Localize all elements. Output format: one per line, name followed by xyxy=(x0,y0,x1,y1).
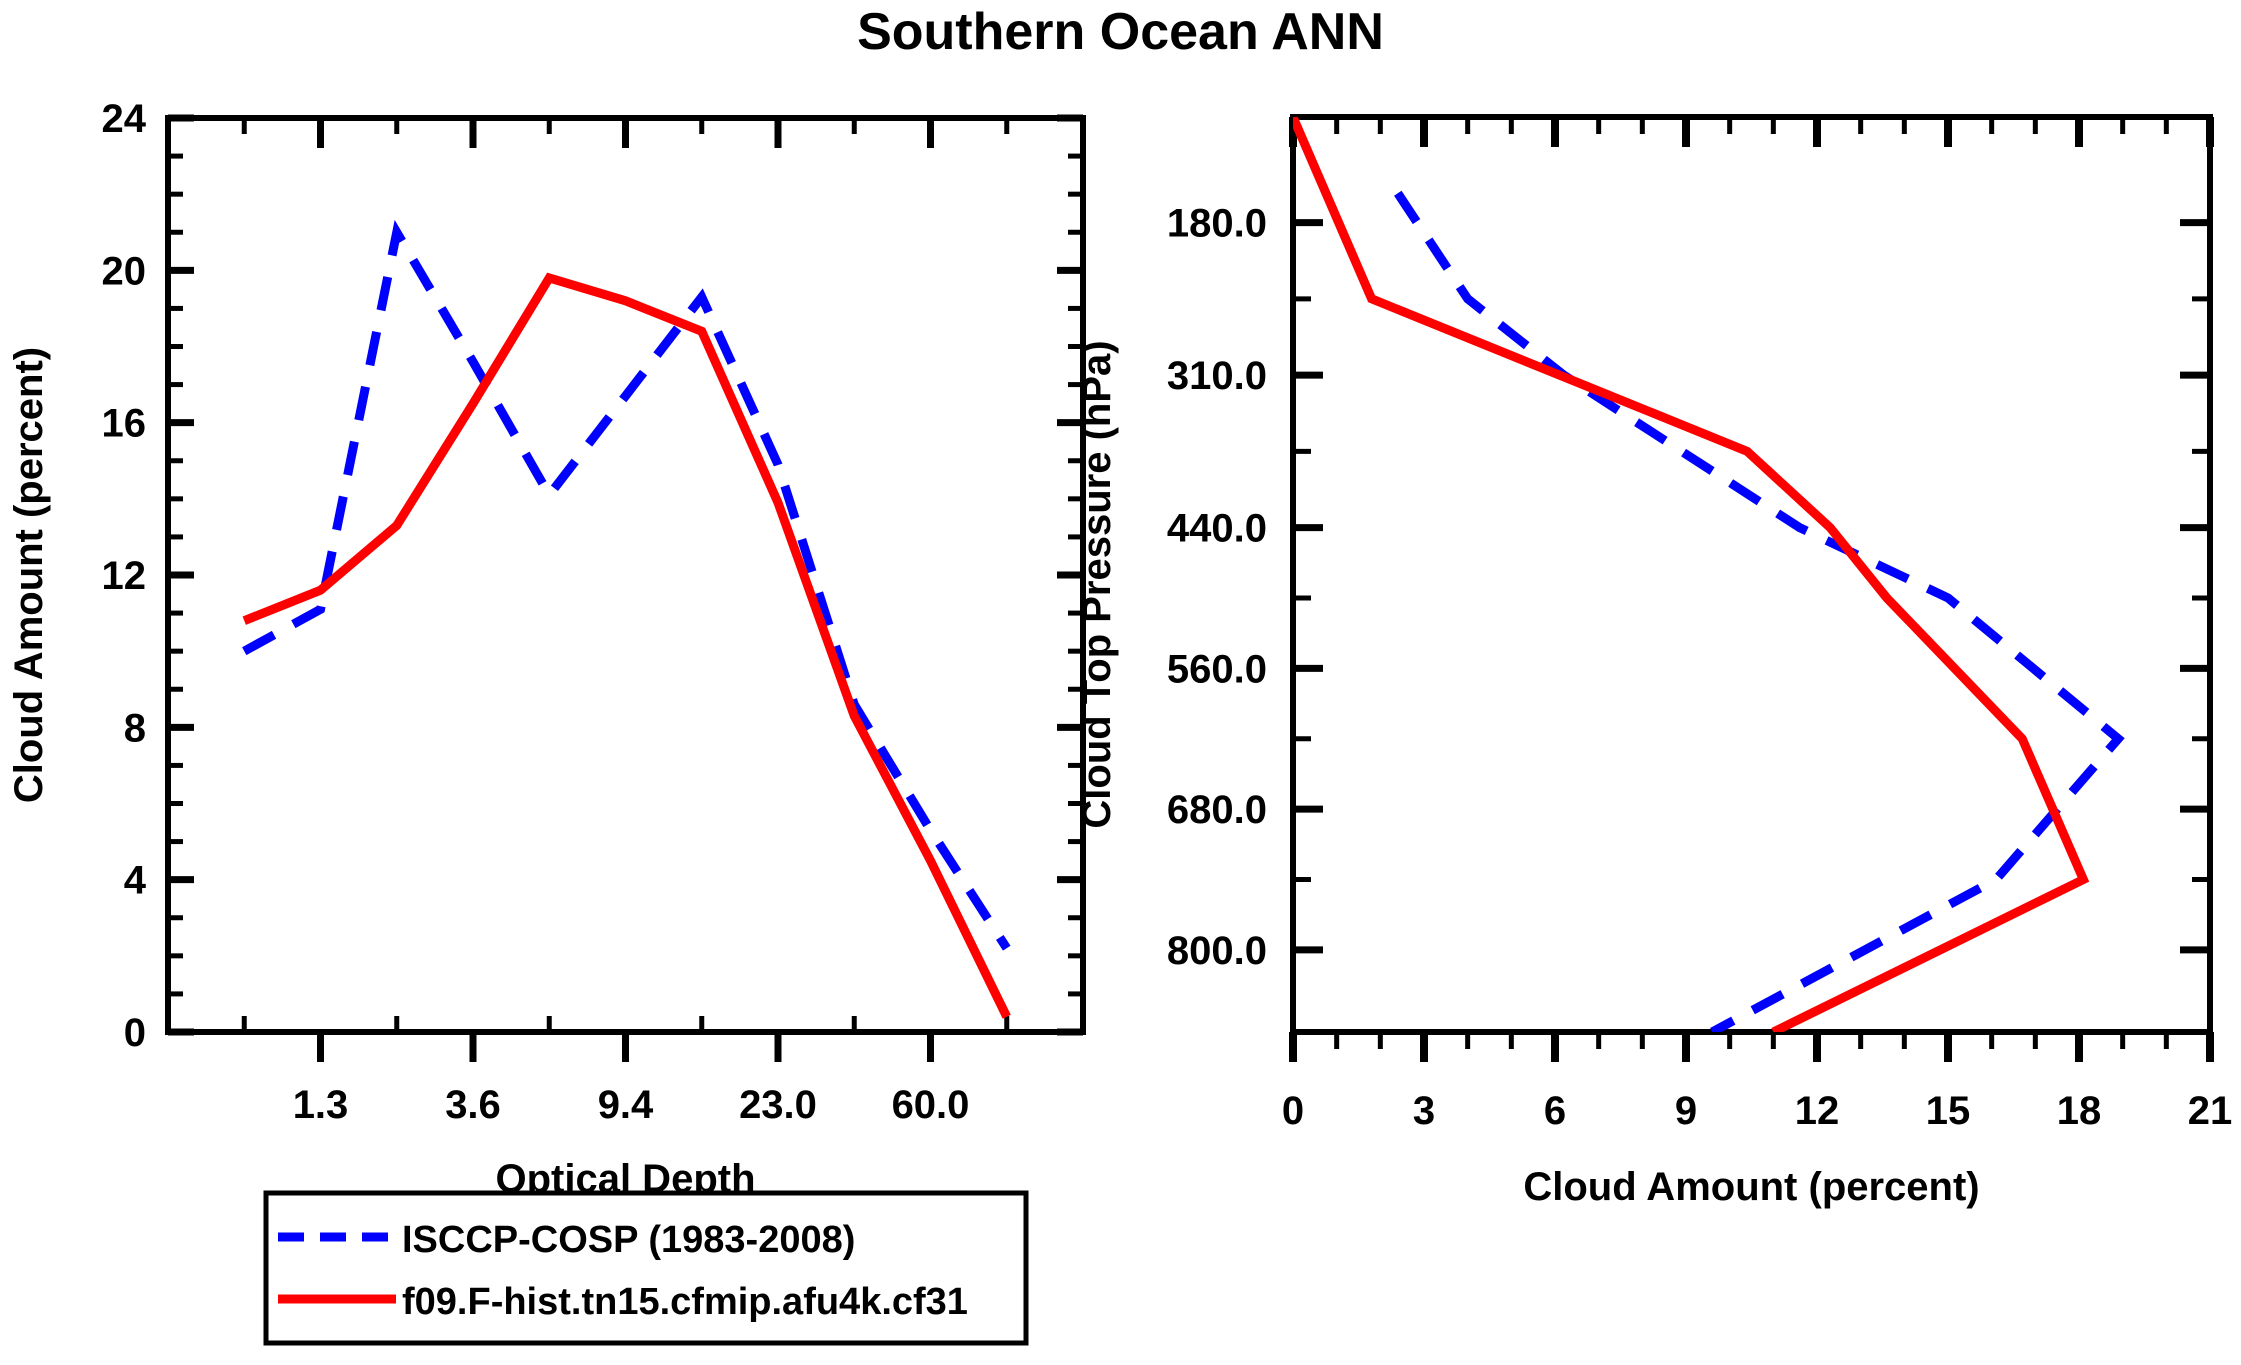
y-tick-label: 16 xyxy=(102,402,147,446)
y-axis-title: Cloud Top Pressure (hPa) xyxy=(1075,340,1119,828)
x-tick-label: 15 xyxy=(1926,1089,1971,1133)
legend-label-0: ISCCP-COSP (1983-2008) xyxy=(402,1219,855,1261)
y-tick-label: 12 xyxy=(102,554,147,598)
y-tick-label: 8 xyxy=(124,706,146,750)
x-tick-label: 0 xyxy=(1282,1089,1304,1133)
y-tick-label: 0 xyxy=(124,1011,146,1055)
figure-root: Southern Ocean ANN 048121620241.33.69.42… xyxy=(0,0,2241,1365)
y-tick-label: 24 xyxy=(102,97,147,141)
x-axis-title: Cloud Amount (percent) xyxy=(1523,1165,1979,1209)
x-tick-label: 9.4 xyxy=(598,1083,654,1127)
y-tick-label: 20 xyxy=(102,249,147,293)
x-tick-label: 21 xyxy=(2188,1089,2233,1133)
y-tick-label: 4 xyxy=(124,859,147,903)
x-tick-label: 6 xyxy=(1544,1089,1566,1133)
y-tick-label: 310.0 xyxy=(1167,354,1267,398)
x-tick-label: 3.6 xyxy=(445,1083,501,1127)
x-tick-label: 60.0 xyxy=(892,1083,970,1127)
series-line-0 xyxy=(244,232,1007,948)
plot-frame xyxy=(1293,117,2210,1032)
y-tick-label: 440.0 xyxy=(1167,507,1267,551)
x-tick-label: 9 xyxy=(1675,1089,1697,1133)
x-tick-label: 1.3 xyxy=(293,1083,349,1127)
x-tick-label: 23.0 xyxy=(739,1083,817,1127)
legend: ISCCP-COSP (1983-2008)f09.F-hist.tn15.cf… xyxy=(266,1193,1026,1343)
y-axis-title: Cloud Amount (percent) xyxy=(7,347,51,803)
x-tick-label: 3 xyxy=(1413,1089,1435,1133)
y-tick-label: 680.0 xyxy=(1167,788,1267,832)
plot-canvas: 048121620241.33.69.423.060.0Optical Dept… xyxy=(0,0,2241,1365)
y-tick-label: 560.0 xyxy=(1167,647,1267,691)
x-tick-label: 18 xyxy=(2057,1089,2102,1133)
y-tick-label: 800.0 xyxy=(1167,929,1267,973)
page-title: Southern Ocean ANN xyxy=(0,2,2241,62)
y-tick-label: 180.0 xyxy=(1167,202,1267,246)
optical-depth-panel: 048121620241.33.69.423.060.0Optical Dept… xyxy=(7,97,1083,1201)
cloud-top-pressure-panel: 036912151821180.0310.0440.0560.0680.0800… xyxy=(1075,117,2232,1209)
series-line-0 xyxy=(1398,193,2119,1032)
x-tick-label: 12 xyxy=(1795,1089,1840,1133)
legend-label-1: f09.F-hist.tn15.cfmip.afu4k.cf31 xyxy=(402,1281,968,1323)
